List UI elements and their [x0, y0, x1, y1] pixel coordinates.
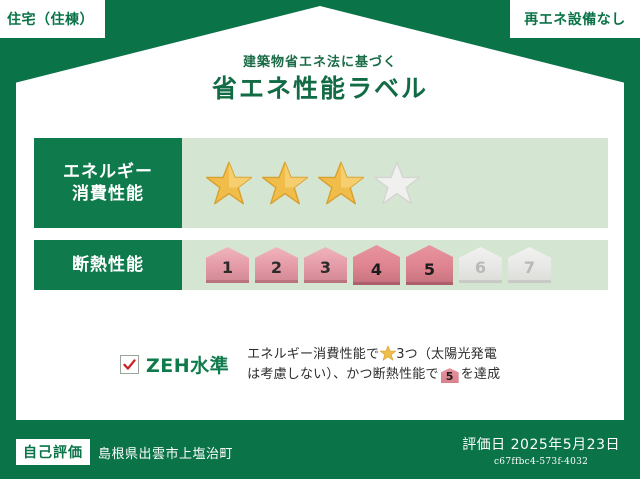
document-id: c67ffbc4-573f-4032 — [462, 457, 620, 467]
footer-right: 評価日 2025年5月23日 c67ffbc4-573f-4032 — [462, 434, 620, 467]
zeh-label: ZEH水準 — [146, 351, 229, 378]
evaluation-date: 評価日 2025年5月23日 — [462, 434, 620, 454]
zeh-desc-part2: 3つ（太陽光発電 — [396, 347, 497, 362]
row-insulation-chips: 1 2 3 4 5 6 7 — [182, 240, 608, 290]
page-title: 省エネ性能ラベル — [0, 73, 640, 104]
row-energy-label: エネルギー 消費性能 — [34, 138, 182, 228]
title-block: 建築物省エネ法に基づく 省エネ性能ラベル — [0, 56, 640, 105]
row-energy-label-line1: エネルギー — [63, 161, 153, 183]
row-energy-stars — [182, 138, 608, 228]
star-icon-empty — [374, 160, 420, 206]
row-insulation-label: 断熱性能 — [34, 240, 182, 290]
check-icon — [122, 357, 137, 372]
zeh-description: エネルギー消費性能で3つ（太陽光発電 は考慮しない）、かつ断熱性能で5を達成 — [247, 345, 500, 385]
star-icon — [206, 160, 252, 206]
address-text: 島根県出雲市上塩治町 — [98, 443, 233, 462]
star-icon — [318, 160, 364, 206]
row-energy-performance: エネルギー 消費性能 — [34, 138, 608, 228]
insulation-chip: 2 — [255, 247, 298, 283]
row-energy-label-line2: 消費性能 — [72, 183, 144, 205]
star-icon — [262, 160, 308, 206]
row-insulation-label-line1: 断熱性能 — [72, 254, 144, 276]
insulation-chip: 7 — [508, 247, 551, 283]
insulation-chip: 4 — [353, 245, 400, 285]
inline-insulation-chip: 5 — [441, 368, 459, 383]
zeh-checkbox[interactable] — [120, 355, 139, 374]
zeh-tag: ZEH水準 — [120, 345, 229, 378]
footer-left: 自己評価 島根県出雲市上塩治町 — [16, 439, 233, 465]
self-evaluation-badge: 自己評価 — [16, 439, 90, 465]
insulation-chip: 5 — [406, 245, 453, 285]
zeh-block: ZEH水準 エネルギー消費性能で3つ（太陽光発電 は考慮しない）、かつ断熱性能で… — [120, 345, 590, 385]
zeh-desc-part3: は考慮しない）、かつ断熱性能で — [247, 367, 439, 382]
zeh-desc-part4: を達成 — [461, 367, 501, 382]
insulation-chip: 1 — [206, 247, 249, 283]
star-icon — [380, 345, 396, 361]
title-subtitle: 建築物省エネ法に基づく — [0, 56, 640, 70]
insulation-chip: 6 — [459, 247, 502, 283]
energy-performance-label: 住宅（住棟） 再エネ設備なし 建築物省エネ法に基づく 省エネ性能ラベル エネルギ… — [0, 0, 640, 479]
badge-renewable-energy: 再エネ設備なし — [510, 0, 640, 38]
badge-building-type: 住宅（住棟） — [0, 0, 105, 38]
zeh-desc-part1: エネルギー消費性能で — [247, 347, 379, 362]
row-insulation-performance: 断熱性能 1 2 3 4 5 6 7 — [34, 240, 608, 290]
insulation-chip: 3 — [304, 247, 347, 283]
